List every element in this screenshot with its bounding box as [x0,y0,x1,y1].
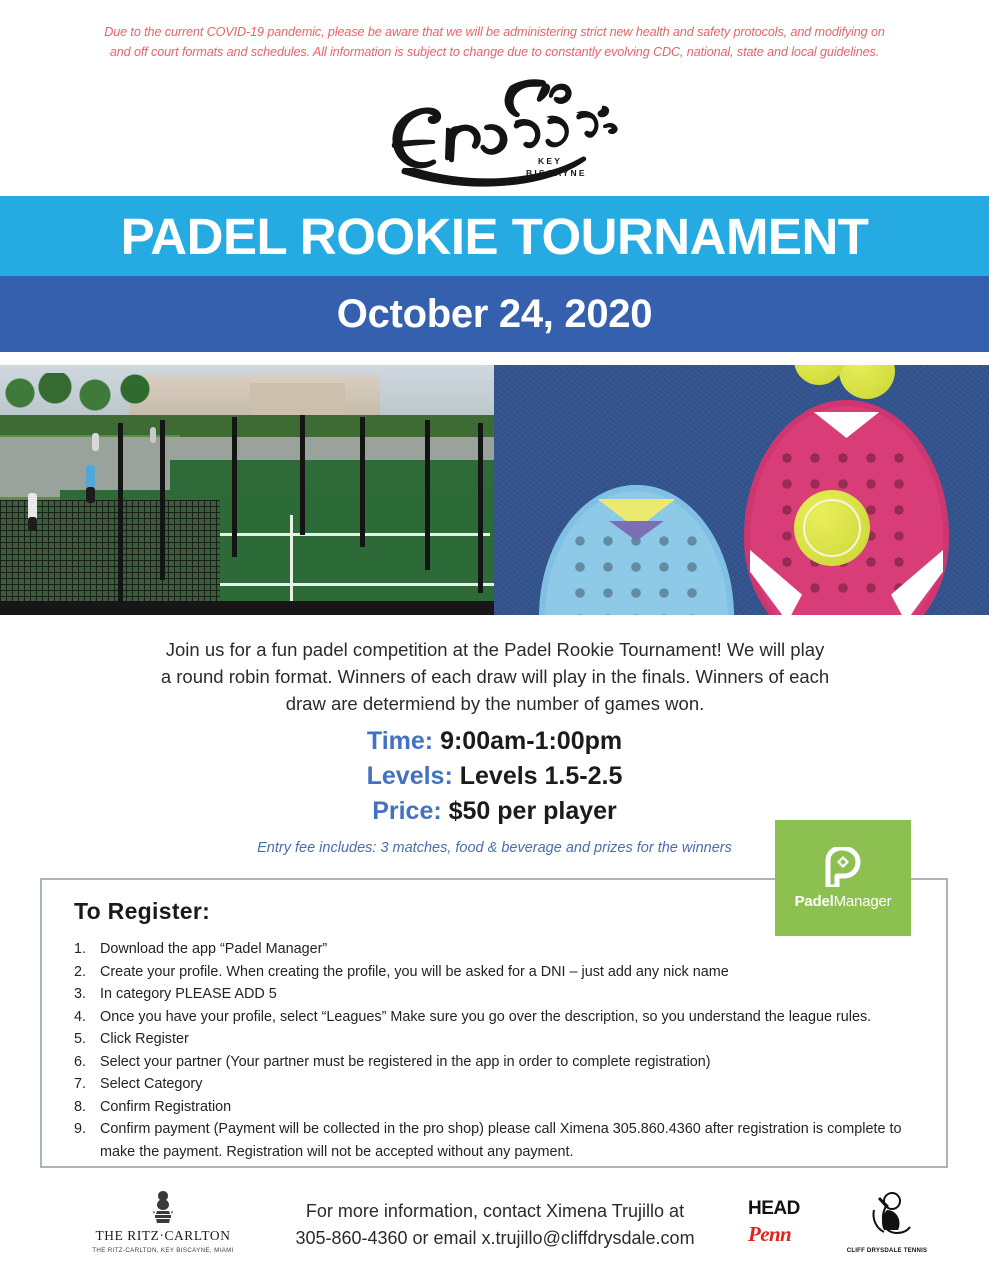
detail-price-value: $50 per player [449,797,617,825]
register-step-text: Select your partner (Your partner must b… [100,1051,934,1074]
logo-sub-biscayne: BISCAYNE [526,168,587,178]
detail-time-value: 9:00am-1:00pm [440,727,622,755]
tournament-date-banner: October 24, 2020 [0,276,989,352]
register-step-text: In category PLEASE ADD 5 [100,983,934,1006]
ritz-carlton-logo: THE RITZ·CARLTON THE RITZ-CARLTON, KEY B… [88,1190,238,1254]
detail-levels: Levels: Levels 1.5-2.5 [0,759,989,794]
padel-manager-mark-icon [824,847,862,887]
contact-line-1: For more information, contact Ximena Tru… [270,1198,720,1225]
register-step: 5. Click Register [64,1028,934,1051]
head-penn-logo: HEAD Penn [748,1198,830,1247]
register-step-number: 7. [64,1073,100,1096]
register-step: 7. Select Category [64,1073,934,1096]
register-step-number: 4. [64,1006,100,1029]
register-step-number: 2. [64,961,100,984]
ritz-carlton-name: THE RITZ·CARLTON [88,1228,238,1244]
register-step-text: Once you have your profile, select “Leag… [100,1006,934,1029]
footer: THE RITZ·CARLTON THE RITZ-CARLTON, KEY B… [0,1186,989,1280]
event-description: Join us for a fun padel competition at t… [95,636,895,717]
register-step-text: Confirm payment (Payment will be collect… [100,1118,934,1163]
photo-strip [0,365,989,615]
register-step-number: 9. [64,1118,100,1163]
register-step-number: 3. [64,983,100,1006]
register-step-text: Create your profile. When creating the p… [100,961,934,984]
tennis-player-swoosh-icon [856,1192,918,1240]
empanadas-logo: KEY BISCAYNE [0,72,989,190]
tournament-title: PADEL ROOKIE TOURNAMENT [121,207,869,266]
contact-info: For more information, contact Ximena Tru… [270,1198,720,1252]
register-step-number: 5. [64,1028,100,1051]
covid-notice-line-2: and off court formats and schedules. All… [34,42,955,62]
register-step-number: 6. [64,1051,100,1074]
empanadas-script-logo: KEY BISCAYNE [360,72,630,190]
flyer-page: Due to the current COVID-19 pandemic, pl… [0,0,989,1280]
detail-time-label: Time: [367,727,433,755]
padel-court-photo [0,365,494,615]
description-line-2: a round robin format. Winners of each dr… [95,663,895,690]
penn-wordmark: Penn [748,1222,830,1247]
tournament-date: October 24, 2020 [337,292,652,337]
detail-levels-value: Levels 1.5-2.5 [460,762,623,790]
register-steps-list: 1. Download the app “Padel Manager” 2. C… [64,938,934,1163]
detail-time: Time: 9:00am-1:00pm [0,724,989,759]
register-step-text: Download the app “Padel Manager” [100,938,934,961]
event-details: Time: 9:00am-1:00pm Levels: Levels 1.5-2… [0,724,989,829]
covid-notice-line-1: Due to the current COVID-19 pandemic, pl… [34,22,955,42]
register-step: 6. Select your partner (Your partner mus… [64,1051,934,1074]
register-step-text: Confirm Registration [100,1096,934,1119]
register-step: 9. Confirm payment (Payment will be coll… [64,1118,934,1163]
padel-manager-name-light: Manager [834,893,892,910]
padel-manager-logo: PadelManager [775,820,911,936]
padel-rackets-photo [494,365,989,615]
register-step-number: 1. [64,938,100,961]
register-step: 8. Confirm Registration [64,1096,934,1119]
detail-levels-label: Levels: [367,762,453,790]
description-line-3: draw are determiend by the number of gam… [95,690,895,717]
description-line-1: Join us for a fun padel competition at t… [95,636,895,663]
cliff-drysdale-name: CLIFF DRYSDALE TENNIS [846,1247,928,1254]
cliff-drysdale-tennis-logo: CLIFF DRYSDALE TENNIS [846,1192,928,1254]
register-step: 2. Create your profile. When creating th… [64,961,934,984]
register-step-text: Click Register [100,1028,934,1051]
register-step-text: Select Category [100,1073,934,1096]
sponsor-logos: HEAD Penn CLIFF DRYSDALE TENNIS [748,1192,928,1262]
register-title: To Register: [74,898,210,925]
padel-manager-wordmark: PadelManager [795,893,892,910]
detail-price-label: Price: [372,797,441,825]
logo-sub-key: KEY [538,156,562,166]
tournament-title-banner: PADEL ROOKIE TOURNAMENT [0,196,989,276]
register-step-number: 8. [64,1096,100,1119]
padel-manager-name-bold: Padel [795,893,834,910]
register-step: 3. In category PLEASE ADD 5 [64,983,934,1006]
register-step: 1. Download the app “Padel Manager” [64,938,934,961]
ritz-carlton-location: THE RITZ-CARLTON, KEY BISCAYNE, MIAMI [88,1247,238,1254]
head-wordmark: HEAD [748,1198,830,1220]
contact-line-2: 305-860-4360 or email x.trujillo@cliffdr… [270,1225,720,1252]
ritz-lion-crest-icon [148,1190,178,1224]
register-step: 4. Once you have your profile, select “L… [64,1006,934,1029]
covid-notice: Due to the current COVID-19 pandemic, pl… [34,22,955,62]
